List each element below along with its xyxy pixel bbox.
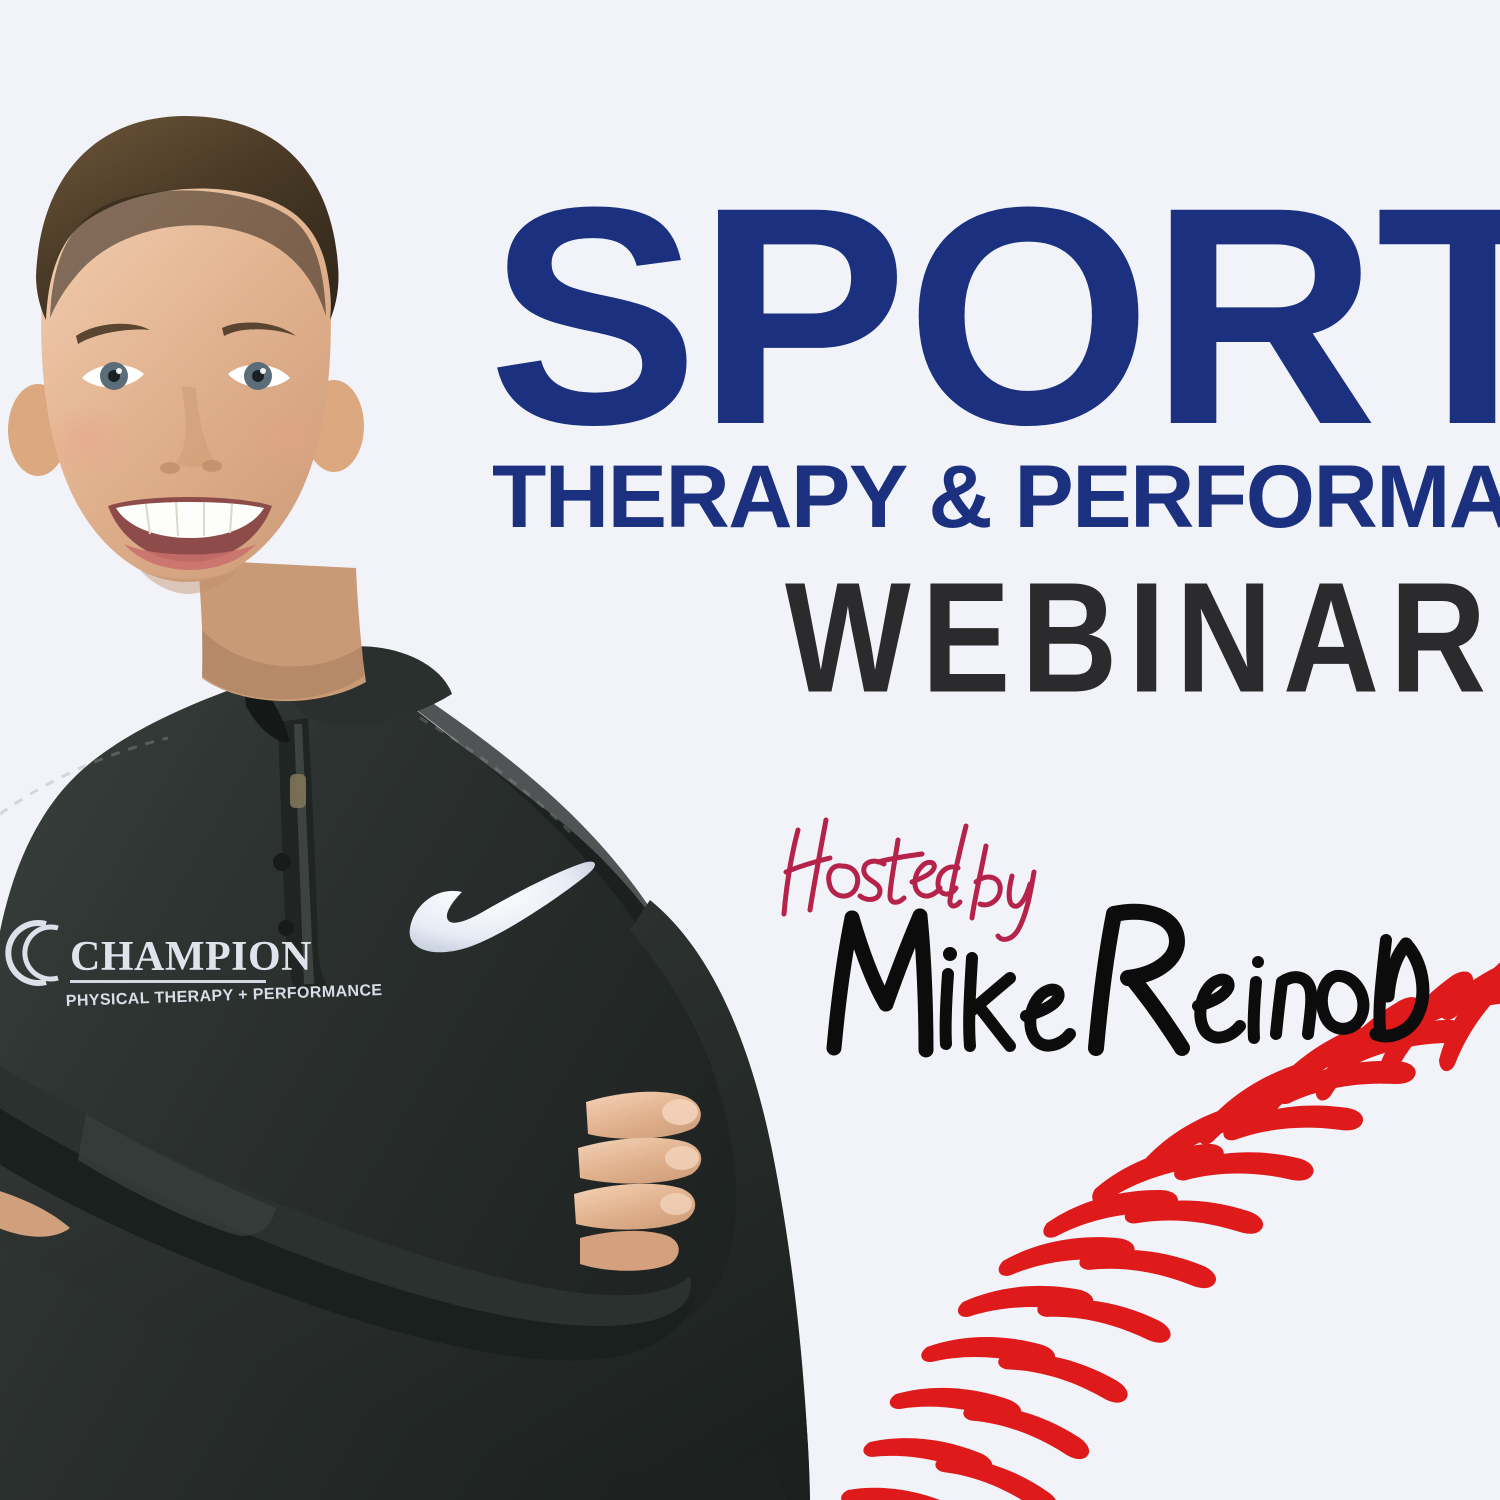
head xyxy=(8,116,364,594)
svg-text:CHAMPION: CHAMPION xyxy=(70,934,312,980)
podcast-cover-art: CHAMPION PHYSICAL THERAPY + PERFORMANCE xyxy=(0,0,1500,1500)
host-photo: CHAMPION PHYSICAL THERAPY + PERFORMANCE xyxy=(0,70,820,1500)
